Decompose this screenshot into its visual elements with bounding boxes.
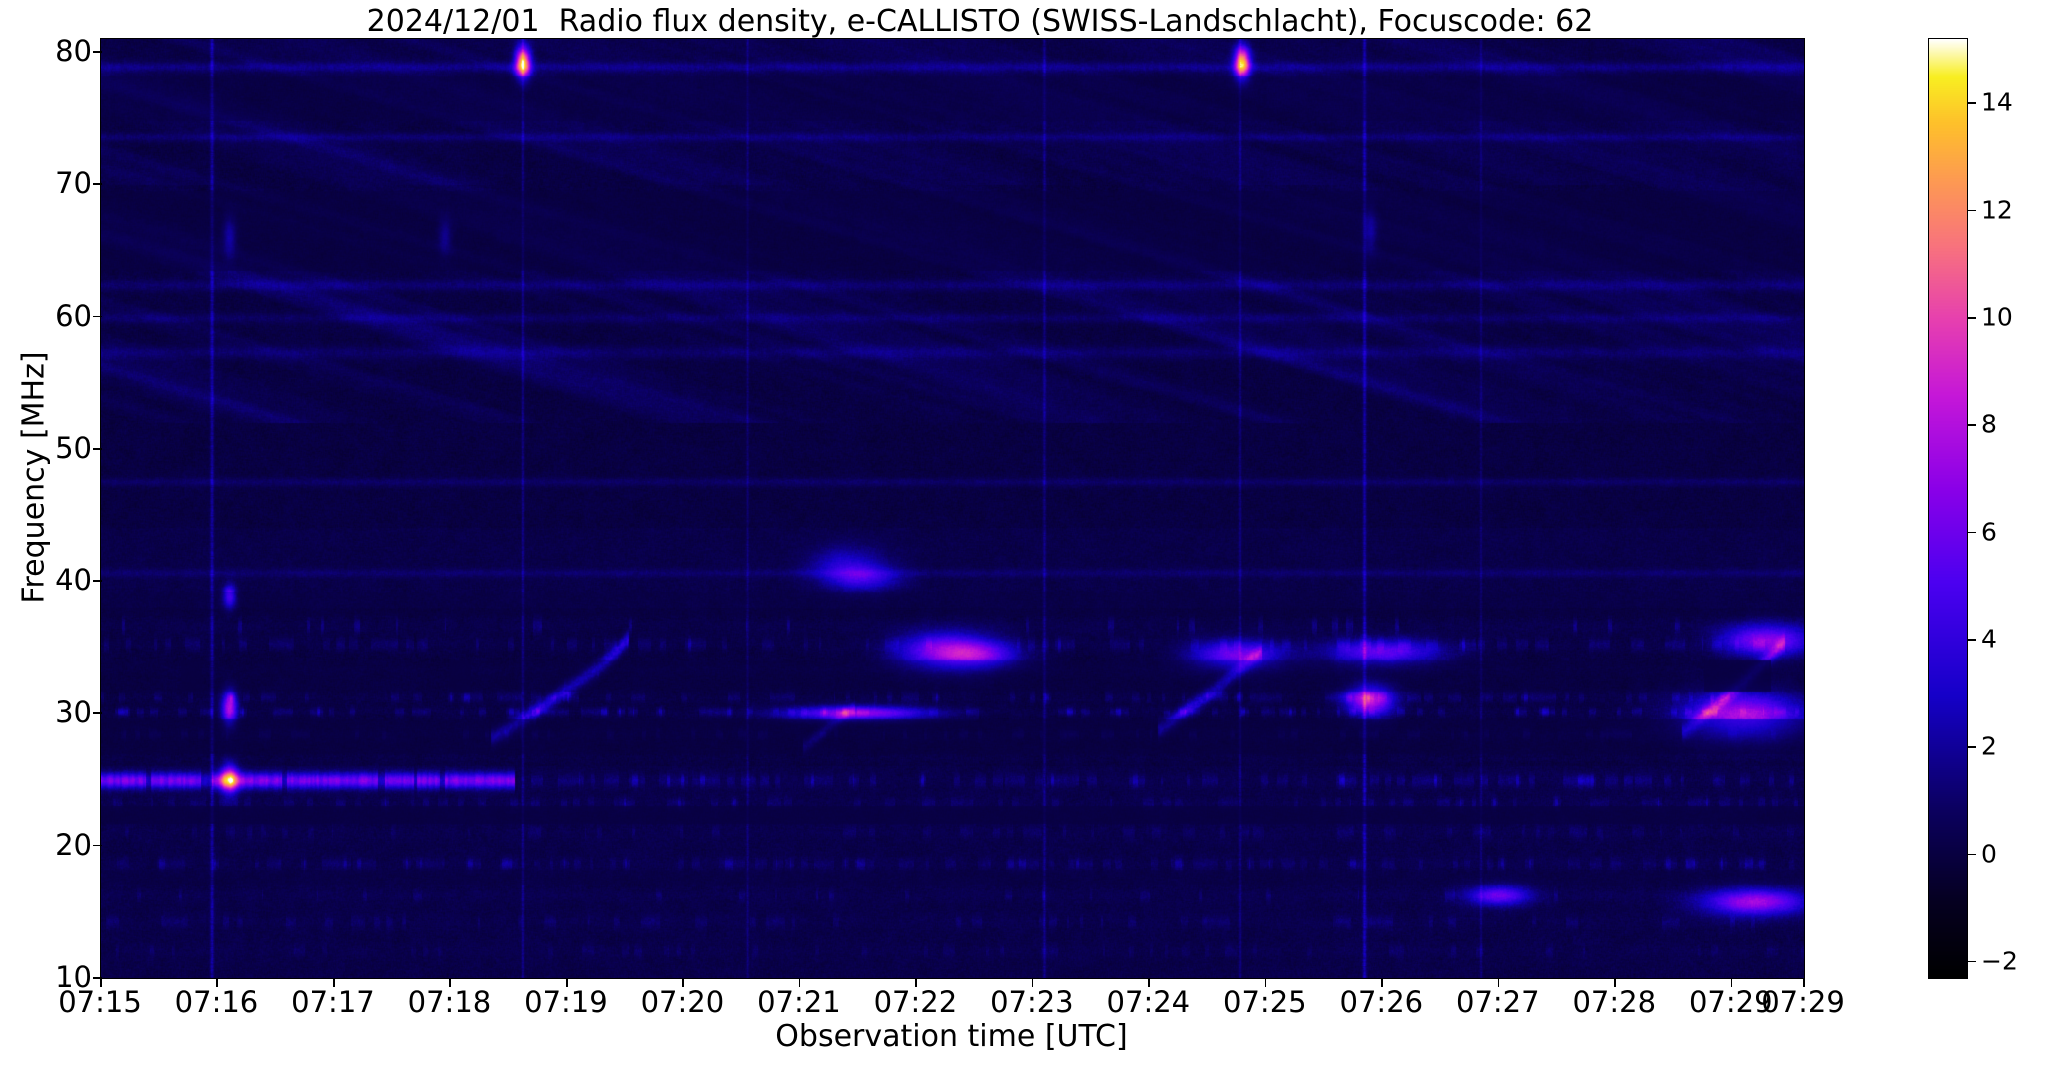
- colorbar-gradient: [1929, 39, 1967, 978]
- page-title: 2024/12/01 Radio flux density, e-CALLIST…: [100, 5, 1860, 39]
- x-tick-mark: [1265, 978, 1267, 987]
- x-tick-mark: [915, 978, 917, 987]
- y-tick-label: 20: [22, 828, 92, 862]
- y-tick-label: 50: [22, 431, 92, 465]
- x-tick-mark: [566, 978, 568, 987]
- colorbar-tick-mark: [1967, 639, 1976, 641]
- x-tick-mark: [1148, 978, 1150, 987]
- y-tick-mark: [93, 845, 102, 847]
- colorbar-tick-label: 2: [1981, 732, 1997, 761]
- colorbar-tick-mark: [1967, 532, 1976, 534]
- x-tick-mark: [1614, 978, 1616, 987]
- x-tick-mark: [1498, 978, 1500, 987]
- x-tick-mark: [1032, 978, 1034, 987]
- x-tick-label: 07:29: [1713, 985, 1893, 1019]
- x-tick-mark: [1381, 978, 1383, 987]
- y-tick-label: 60: [22, 299, 92, 333]
- y-tick-label: 30: [22, 695, 92, 729]
- colorbar-tick-mark: [1967, 102, 1976, 104]
- colorbar-tick-mark: [1967, 746, 1976, 748]
- x-tick-mark: [216, 978, 218, 987]
- colorbar-tick-mark: [1967, 854, 1976, 856]
- y-tick-mark: [93, 316, 102, 318]
- spectrogram-image[interactable]: [101, 39, 1804, 978]
- colorbar-tick-mark: [1967, 961, 1976, 963]
- colorbar-tick-mark: [1967, 424, 1976, 426]
- x-axis-label: Observation time [UTC]: [100, 1019, 1803, 1054]
- colorbar-tick-label: −2: [1981, 946, 2018, 975]
- x-tick-mark: [799, 978, 801, 987]
- colorbar-tick-label: 0: [1981, 839, 1997, 868]
- x-tick-mark: [333, 978, 335, 987]
- y-tick-mark: [93, 580, 102, 582]
- colorbar-tick-mark: [1967, 210, 1976, 212]
- y-axis-tick-labels: 8070605040302010: [10, 38, 92, 977]
- colorbar-tick-mark: [1967, 317, 1976, 319]
- y-tick-label: 70: [22, 166, 92, 200]
- x-tick-mark: [100, 978, 102, 987]
- x-tick-mark: [449, 978, 451, 987]
- y-tick-mark: [93, 712, 102, 714]
- y-tick-label: 80: [22, 34, 92, 68]
- colorbar-tick-label: 8: [1981, 410, 1997, 439]
- y-tick-label: 40: [22, 563, 92, 597]
- colorbar-tick-label: 6: [1981, 517, 1997, 546]
- spectrogram-axes[interactable]: [100, 38, 1805, 979]
- colorbar[interactable]: [1928, 38, 1968, 979]
- colorbar-tick-labels: −202468101214: [1967, 38, 2045, 977]
- colorbar-tick-label: 10: [1981, 303, 2013, 332]
- matplotlib-figure: 2024/12/01 Radio flux density, e-CALLIST…: [0, 0, 2047, 1067]
- colorbar-tick-label: 4: [1981, 624, 1997, 653]
- x-tick-mark: [1803, 978, 1805, 987]
- y-tick-mark: [93, 51, 102, 53]
- y-tick-mark: [93, 448, 102, 450]
- x-tick-mark: [1731, 978, 1733, 987]
- colorbar-tick-label: 14: [1981, 88, 2013, 117]
- y-tick-mark: [93, 183, 102, 185]
- colorbar-tick-label: 12: [1981, 195, 2013, 224]
- x-tick-mark: [682, 978, 684, 987]
